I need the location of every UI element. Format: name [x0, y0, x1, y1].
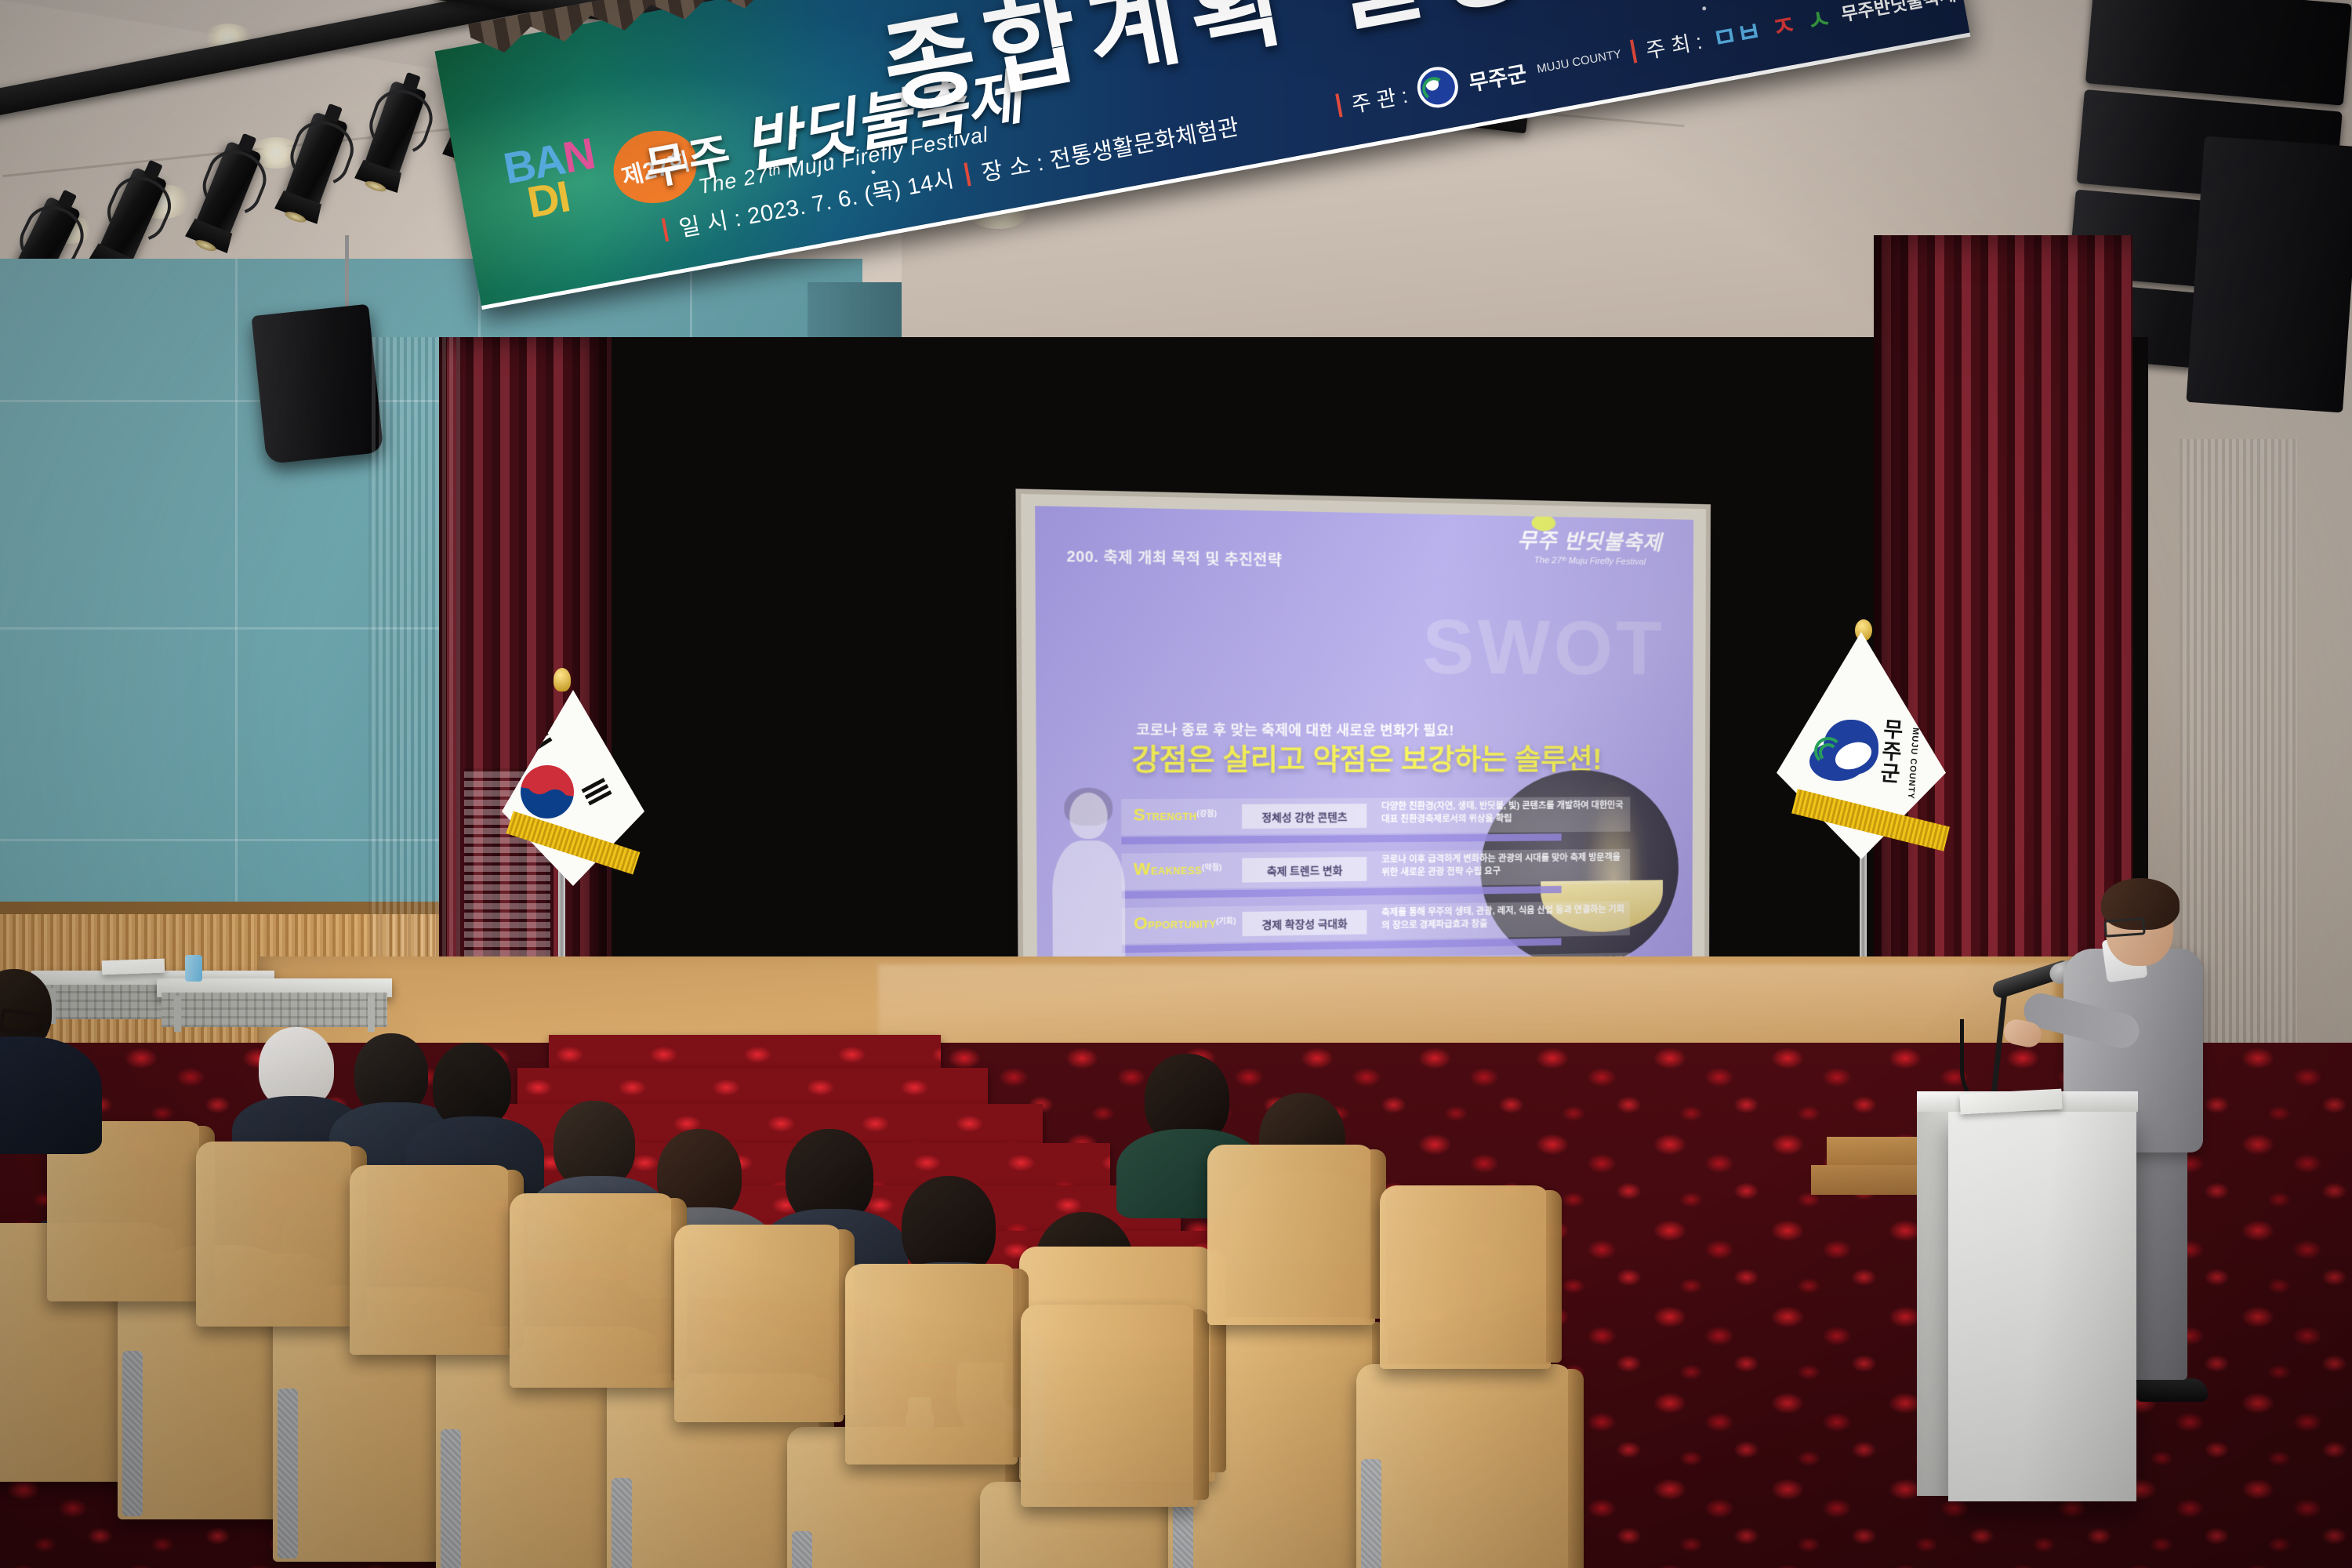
swot-chip: 축제 트렌드 변화 — [1242, 857, 1367, 883]
auditorium-seat[interactable] — [1207, 1145, 1375, 1325]
auditorium-seat[interactable] — [350, 1165, 513, 1355]
slide-section-number: 200. 축제 개최 목적 및 추진전략 — [1066, 545, 1282, 570]
flag-finial — [554, 668, 571, 691]
table-papers — [102, 959, 165, 975]
auditorium-seat[interactable] — [1380, 1185, 1551, 1369]
swot-description: 다양한 친환경(자연, 생태, 반딧불, 빛) 콘텐츠를 개발하여 대한민국 대… — [1381, 800, 1627, 826]
swot-key: STRENGTH(강점) — [1133, 805, 1217, 826]
muju-flag-english-text: MUJU COUNTY — [1906, 728, 1920, 800]
muju-county-emblem-icon — [1809, 720, 1883, 782]
banner-supervised-org-en: MUJU COUNTY — [1536, 47, 1622, 75]
swot-description: 코로나 이후 급격하게 변화하는 관광의 시대를 맞아 축제 방문객을 위한 새… — [1381, 852, 1627, 880]
auditorium-seat[interactable] — [1356, 1364, 1573, 1568]
swot-key: OPPORTUNITY(기회) — [1134, 913, 1236, 934]
auditorium-seat[interactable] — [674, 1225, 844, 1422]
banner-supervised-org: 무주군 — [1466, 56, 1529, 96]
auditorium-scene: BAN DI 제27회 무주 반딧불축제 종합계획 설명회 The 27ᵗʰ M… — [0, 0, 2352, 1568]
swot-chip: 경제 확장성 극대화 — [1242, 910, 1367, 936]
podium — [1948, 1109, 2136, 1501]
festival-logo-icon: ㅅ — [1802, 0, 1834, 38]
divider — [964, 162, 971, 186]
projection-screen: 200. 축제 개최 목적 및 추진전략 SWOT 무주 반딧불축제 The 2… — [1021, 494, 1706, 1002]
line-array-speaker — [2186, 136, 2352, 412]
water-bottle — [185, 955, 202, 982]
presentation-slide: 200. 축제 개최 목적 및 추진전략 SWOT 무주 반딧불축제 The 2… — [1035, 506, 1693, 968]
presenter-silhouette-graphic — [1047, 793, 1131, 964]
festival-logo-icon: ㅁㅂ — [1709, 9, 1764, 56]
festival-logo: 무주 반딧불축제 The 27ᵗʰ Muju Firefly Festival — [1517, 524, 1662, 567]
swot-chip: 정체성 강한 콘텐츠 — [1242, 804, 1367, 829]
banner-supervised-label: 주 관 : — [1348, 78, 1410, 118]
auditorium-seat[interactable] — [510, 1193, 676, 1388]
slide-watermark: SWOT — [1422, 603, 1665, 693]
bandi-mascot-logo: BAN DI — [501, 135, 604, 226]
divider — [1335, 93, 1342, 117]
stage-step — [549, 1035, 941, 1070]
eyeglasses-icon — [2103, 917, 2145, 938]
wall-mounted-speaker — [251, 304, 383, 465]
slide-headline: 강점은 살리고 약점은 보강하는 솔루션! — [1131, 736, 1602, 779]
auditorium-seat[interactable] — [845, 1264, 1018, 1465]
swot-key: WEAKNESS(약점) — [1134, 859, 1222, 880]
auditorium-seat[interactable] — [196, 1142, 356, 1327]
auditorium-seat[interactable] — [1021, 1305, 1198, 1507]
swot-description: 축제를 통해 무주의 생태, 관광, 레저, 식음 산업 등과 연결하는 기회의… — [1381, 904, 1627, 933]
sheer-drape-left — [368, 337, 463, 980]
festival-logo-icon: ㅈ — [1768, 2, 1799, 45]
divider — [1630, 39, 1637, 63]
banner-hosted-org: 무주반딧불축제 제전위원회 — [1838, 0, 1970, 27]
trigram-icon — [582, 778, 614, 808]
swot-row: STRENGTH(강점) 정체성 강한 콘텐츠 다양한 친환경(자연, 생태, … — [1121, 797, 1630, 845]
muju-flag-korean-text: 무주군 — [1876, 717, 1902, 785]
slide-logo-english: The 27ᵗʰ Muju Firefly Festival — [1517, 555, 1662, 567]
muju-county-logo-icon — [1414, 64, 1462, 111]
swot-row: OPPORTUNITY(기회) 경제 확장성 극대화 축제를 통해 무주의 생태… — [1122, 901, 1630, 954]
banner-hosted-label: 주 최 : — [1643, 24, 1704, 64]
swot-row: WEAKNESS(약점) 축제 트렌드 변화 코로나 이후 급격하게 변화하는 … — [1121, 849, 1630, 900]
